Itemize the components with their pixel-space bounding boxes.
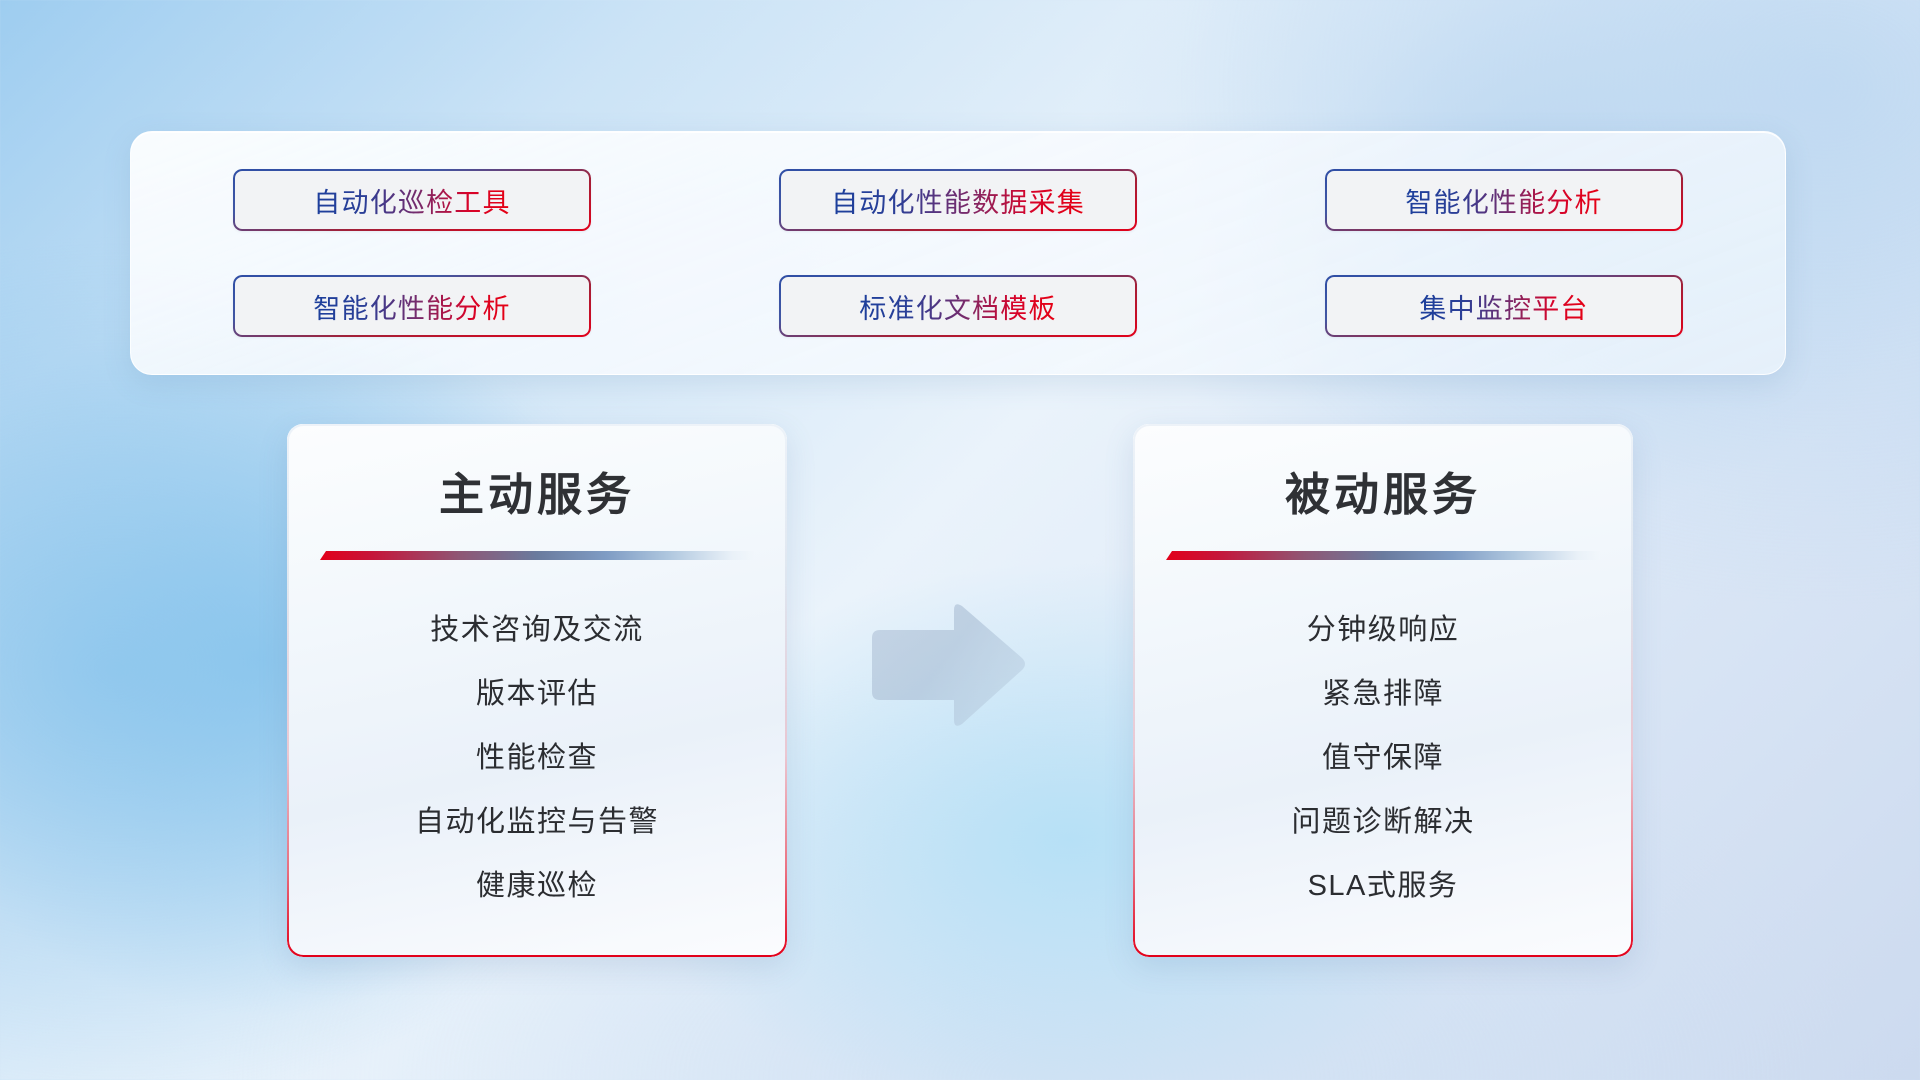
capability-tag[interactable]: 标准化文档模板	[779, 275, 1137, 337]
capability-tag[interactable]: 智能化性能分析	[1325, 169, 1683, 231]
capability-tags-grid: 自动化巡检工具 自动化性能数据采集 智能化性能分析 智能化性能分析 标准化文档模…	[131, 132, 1785, 374]
capability-tag-label: 智能化性能分析	[313, 287, 510, 326]
service-item-list: 分钟级响应 紧急排障 值守保障 问题诊断解决 SLA式服务	[1133, 606, 1633, 904]
service-item-list: 技术咨询及交流 版本评估 性能检查 自动化监控与告警 健康巡检	[287, 606, 787, 904]
service-list-item: 性能检查	[476, 734, 598, 776]
service-list-item: 分钟级响应	[1307, 606, 1460, 648]
capability-tag[interactable]: 自动化性能数据采集	[779, 169, 1137, 231]
capability-tag-label: 自动化性能数据采集	[831, 181, 1085, 220]
service-card-reactive: 被动服务 分钟级响应 紧急排障 值守保障 问题诊断解决 SLA式服务	[1133, 424, 1633, 957]
service-card-title: 被动服务	[1133, 458, 1633, 523]
service-list-item: 版本评估	[476, 670, 598, 712]
service-list-item: 技术咨询及交流	[430, 606, 644, 648]
capability-tags-panel: 自动化巡检工具 自动化性能数据采集 智能化性能分析 智能化性能分析 标准化文档模…	[130, 131, 1786, 375]
card-divider	[320, 551, 754, 560]
service-list-item: 健康巡检	[476, 862, 598, 904]
service-card-proactive: 主动服务 技术咨询及交流 版本评估 性能检查 自动化监控与告警 健康巡检	[287, 424, 787, 957]
capability-tag[interactable]: 自动化巡检工具	[233, 169, 591, 231]
service-list-item: SLA式服务	[1308, 862, 1459, 904]
service-card-title: 主动服务	[287, 458, 787, 523]
service-list-item: 值守保障	[1322, 734, 1444, 776]
capability-tag[interactable]: 集中监控平台	[1325, 275, 1683, 337]
arrow-right-icon	[866, 600, 1028, 730]
capability-tag-label: 智能化性能分析	[1405, 181, 1602, 220]
capability-tag-label: 集中监控平台	[1419, 287, 1588, 326]
capability-tag-label: 自动化巡检工具	[313, 181, 510, 220]
capability-tag[interactable]: 智能化性能分析	[233, 275, 591, 337]
card-divider	[1166, 551, 1600, 560]
service-list-item: 问题诊断解决	[1291, 798, 1474, 840]
capability-tag-label: 标准化文档模板	[859, 287, 1056, 326]
service-list-item: 紧急排障	[1322, 670, 1444, 712]
service-list-item: 自动化监控与告警	[415, 798, 659, 840]
